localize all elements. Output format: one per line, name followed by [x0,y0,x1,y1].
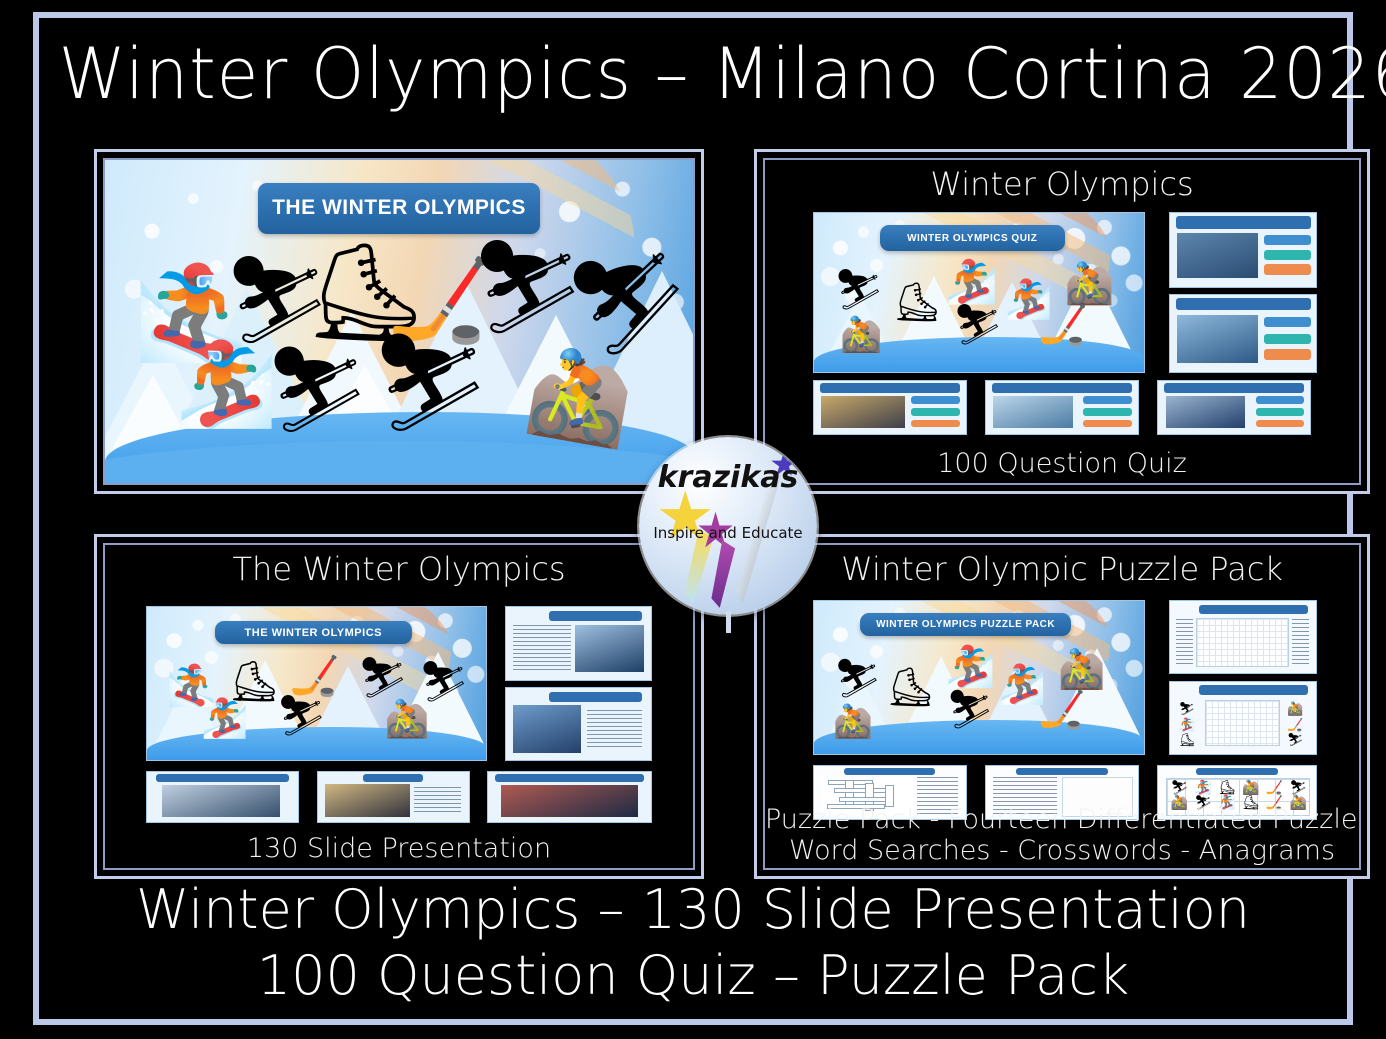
puzzle-panel-title: Winter Olympic Puzzle Pack [765,549,1359,589]
sport-icon: ⛷ [1179,703,1196,716]
hero-slide-banner: THE WINTER OLYMPICS [258,183,540,235]
quiz-question-thumbnail[interactable] [813,380,967,435]
quiz-cover-thumbnail[interactable]: ⛷ ⛸ 🏂 🏂 🚵 ⛷ 🏒 🚵 WINTER OLYMPICS QUIZ [813,212,1146,374]
word-search-1-thumbnail[interactable] [1169,600,1318,674]
ski-jumper-icon: ⛷ [833,659,881,697]
panel-puzzle-pack[interactable]: Winter Olympic Puzzle Pack [754,534,1370,879]
ski-jumper-icon: ⛷ [357,658,408,698]
quiz-panel-inner: Winter Olympics [763,158,1361,485]
quiz-question-thumbnail[interactable] [985,380,1139,435]
panel-presentation[interactable]: The Winter Olympics [94,534,704,879]
sport-icon: 🏂 [1194,781,1211,795]
badge-stick [726,611,731,633]
quiz-question-thumbnail[interactable] [1157,380,1311,435]
puzzle-panel-inner: Winter Olympic Puzzle Pack [763,543,1361,870]
presentation-panel-title: The Winter Olympics [105,549,693,589]
quiz-panel-title: Winter Olympics [765,164,1359,204]
cross-country-skier-icon: ⛷ [370,334,492,430]
product-grid: 🏂 ⛷ ⛸ 🏒 ⛷ ⛷ 🏂 ⛷ ⛷ 🚵 THE WINTER OLYMPICS [94,149,1370,879]
sport-icon: 🏒 [1287,719,1303,732]
cross-country-skier-icon: ⛷ [952,305,1003,345]
curling-athlete-icon: 🏂 [946,647,996,687]
presentation-panel-caption: 130 Slide Presentation [105,833,693,864]
cross-country-skier-icon: ⛷ [276,696,327,736]
skeleton-athlete-icon: 🚵 [833,705,873,737]
cross-country-skier-icon: ⛷ [946,690,994,728]
word-search-2-thumbnail[interactable]: ⛷ 🏂 ⛸ 🚵 🏒 ⛷ [1169,681,1318,755]
ice-hockey-athlete-icon: 🏒 [1038,690,1085,728]
figure-skater-icon: ⛸ [893,283,941,321]
presentation-slide-banner: THE WINTER OLYMPICS [215,621,412,644]
quiz-panel-caption: 100 Question Quiz [765,448,1359,479]
luge-athlete-icon: 🚵 [1058,650,1105,688]
snowboarder-icon: 🏂 [201,699,248,737]
sport-icon: 🚵 [1287,703,1303,716]
brand-tagline: Inspire and Educate [639,524,817,542]
presentation-content-thumbnail[interactable] [317,771,470,823]
brand-name: krazikas [639,460,817,495]
quiz-cover-artwork: ⛷ ⛸ 🏂 🏂 🚵 ⛷ 🏒 🚵 WINTER OLYMPICS QUIZ [814,213,1145,373]
presentation-panel-inner: The Winter Olympics [103,543,695,870]
krazikas-brand-badge: krazikas Inspire and Educate [639,437,817,615]
puzzle-cover-thumbnail[interactable]: ⛷ ⛸ 🏂 🏂 🚵 ⛷ 🏒 🚵 WINTER OLYMPICS PUZZLE P… [813,600,1146,755]
quiz-question-thumbnail[interactable] [1169,212,1318,288]
ice-hockey-athlete-icon: 🏒 [1038,305,1088,345]
puzzle-slide-banner: WINTER OLYMPICS PUZZLE PACK [860,613,1072,636]
panel-quiz[interactable]: Winter Olympics [754,149,1370,494]
sport-icon: ⛷ [1171,781,1189,795]
page-subtitle: Winter Olympics – 130 Slide Presentation… [39,877,1347,1009]
sport-icon: 🏒 [1266,781,1283,795]
curling-athlete-icon: 🏂 [946,261,998,303]
sport-icon: 🏂 [1179,719,1195,732]
skeleton-athlete-icon: 🚵 [840,318,882,352]
ice-hockey-athlete-icon: 🏒 [290,656,340,696]
poster-frame: Winter Olympics – Milano Cortina 2026 [33,12,1353,1025]
quiz-slide-banner: WINTER OLYMPICS QUIZ [880,225,1065,251]
downhill-skier-icon: ⛷ [264,347,371,431]
snowboarder-icon: 🏂 [176,344,278,426]
sport-icon: ⛷ [1289,781,1307,795]
sport-icon: ⛸ [1218,781,1236,795]
presentation-content-thumbnail[interactable] [505,606,652,680]
presentation-cover-thumbnail[interactable]: 🏂 ⛸ 🏒 ⛷ ⛷ 🏂 ⛷ 🚵 THE WINTER OLYMPICS [146,606,487,761]
page-title: Winter Olympics – Milano Cortina 2026 [59,36,1328,112]
winter-olympics-slide: 🏂 ⛷ ⛸ 🏒 ⛷ ⛷ 🏂 ⛷ ⛷ 🚵 THE WINTER OLYMPICS [105,160,693,483]
luge-athlete-icon: 🚵 [1065,264,1115,304]
figure-skater-icon: ⛸ [886,668,934,706]
sport-icon: 🚵 [1242,781,1259,795]
luge-athlete-icon: 🚵 [384,702,429,738]
alpine-skier-icon: ⛷ [418,662,469,702]
presentation-cover-artwork: 🏂 ⛸ 🏒 ⛷ ⛷ 🏂 ⛷ 🚵 THE WINTER OLYMPICS [147,607,486,760]
presentation-content-thumbnail[interactable] [505,687,652,761]
quiz-question-thumbnail[interactable] [1169,294,1318,373]
puzzle-cover-artwork: ⛷ ⛸ 🏂 🏂 🚵 ⛷ 🏒 🚵 WINTER OLYMPICS PUZZLE P… [814,601,1145,754]
luge-athlete-icon: 🚵 [522,345,640,446]
panel-hero-slide[interactable]: 🏂 ⛷ ⛸ 🏒 ⛷ ⛷ 🏂 ⛷ ⛷ 🚵 THE WINTER OLYMPICS [94,149,704,494]
hero-slide-artwork: 🏂 ⛷ ⛸ 🏒 ⛷ ⛷ 🏂 ⛷ ⛷ 🚵 THE WINTER OLYMPICS [103,158,695,485]
presentation-content-thumbnail[interactable] [487,771,652,823]
ski-jumper-icon: ⛷ [833,270,884,310]
sport-icon: ⛷ [1287,734,1304,747]
sport-icon: ⛸ [1179,734,1196,747]
puzzle-panel-caption: Puzzle Pack - Fourteen Differentiated Pu… [765,804,1359,866]
presentation-content-thumbnail[interactable] [146,771,299,823]
poster-background: Winter Olympics – Milano Cortina 2026 [0,0,1386,1039]
